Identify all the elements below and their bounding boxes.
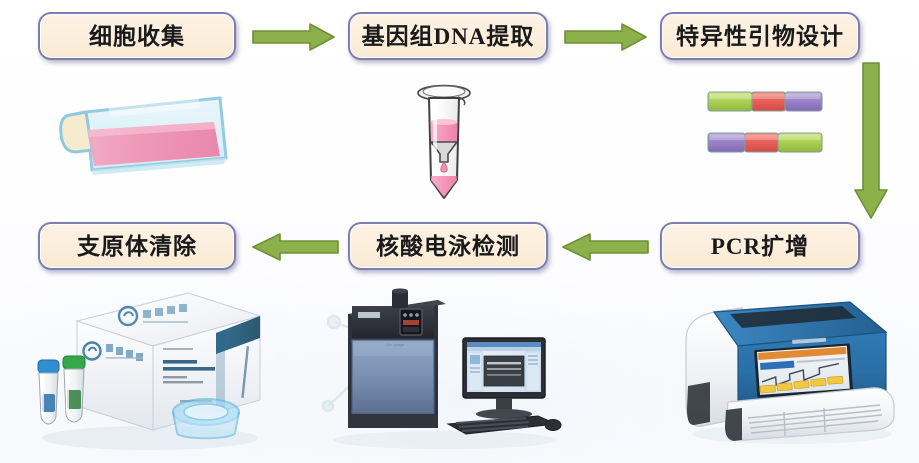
step-box-nucleic-acid-electrophoresis[interactable]: 核酸电泳检测 bbox=[348, 222, 548, 270]
cell-strainer-ring bbox=[173, 399, 239, 438]
computer-monitor bbox=[463, 338, 545, 419]
cycler-touchscreen bbox=[754, 343, 853, 398]
step-box-mycoplasma-elimination[interactable]: 支原体清除 bbox=[38, 222, 236, 270]
primer-bar-bottom bbox=[708, 133, 822, 152]
computer-mouse bbox=[545, 420, 561, 431]
illustration-culture-flask bbox=[48, 78, 268, 188]
svg-text:Gel Image: Gel Image bbox=[386, 342, 405, 347]
illustration-spin-column-tube bbox=[398, 80, 494, 205]
illustration-elimination-kit bbox=[20, 288, 270, 453]
illustration-primer-bars bbox=[706, 88, 826, 160]
step-box-genomic-dna-extraction[interactable]: 基因组DNA提取 bbox=[348, 12, 548, 60]
flask-cap bbox=[61, 112, 92, 152]
step-box-pcr-amplification[interactable]: PCR扩增 bbox=[660, 222, 860, 270]
sample-tube-blue bbox=[38, 360, 59, 424]
illustration-thermal-cycler bbox=[672, 290, 912, 450]
illustration-gel-imaging-system: Gel Image bbox=[320, 288, 570, 453]
arrow-left-pcr-to-electrophoresis bbox=[560, 232, 650, 262]
arrow-right-collection-to-extraction bbox=[252, 22, 336, 52]
step-label-mycoplasma-elimination: 支原体清除 bbox=[77, 235, 197, 258]
computer-keyboard bbox=[448, 416, 556, 434]
imager-base bbox=[348, 414, 438, 428]
step-box-specific-primer-design[interactable]: 特异性引物设计 bbox=[660, 12, 860, 60]
step-box-cell-collection[interactable]: 细胞收集 bbox=[38, 12, 236, 60]
step-label-specific-primer-design: 特异性引物设计 bbox=[676, 25, 844, 48]
arrow-right-extraction-to-primer bbox=[564, 22, 648, 52]
workflow-diagram: 细胞收集 基因组DNA提取 特异性引物设计 支原体清除 核酸电泳检测 PCR扩增 bbox=[0, 0, 919, 463]
step-label-cell-collection: 细胞收集 bbox=[89, 25, 185, 48]
step-label-pcr-amplification: PCR扩增 bbox=[711, 235, 809, 258]
step-label-genomic-dna-extraction: 基因组DNA提取 bbox=[362, 25, 535, 48]
arrow-left-electrophoresis-to-elimination bbox=[250, 232, 340, 262]
step-label-nucleic-acid-electrophoresis: 核酸电泳检测 bbox=[376, 235, 520, 258]
sample-tube-green bbox=[63, 356, 85, 422]
primer-bar-top bbox=[708, 92, 822, 111]
arrow-down-primer-to-pcr bbox=[853, 62, 889, 220]
